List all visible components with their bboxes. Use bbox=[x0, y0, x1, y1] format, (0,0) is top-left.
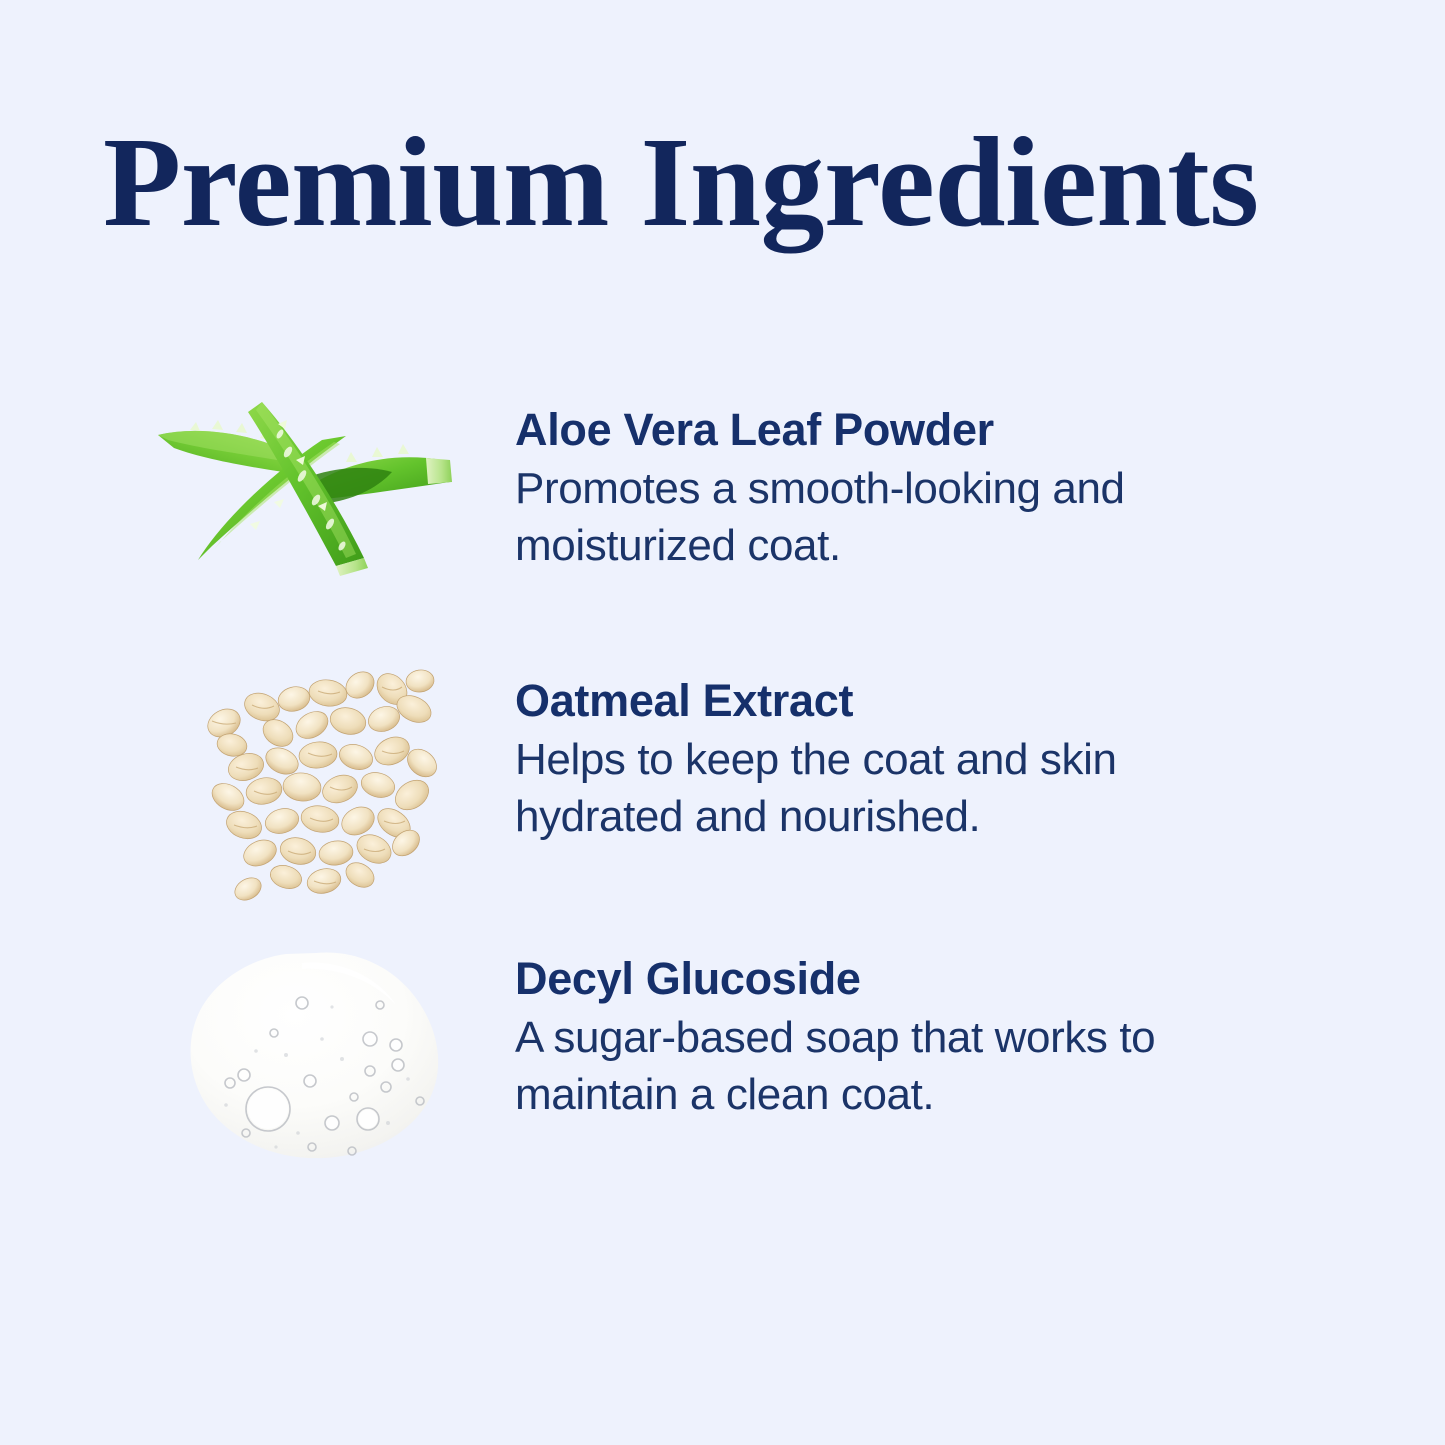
ingredient-description: A sugar-based soap that works to maintai… bbox=[515, 1009, 1215, 1123]
ingredient-name: Aloe Vera Leaf Powder bbox=[515, 402, 1305, 458]
ingredient-item-decyl-glucoside: Decyl Glucoside A sugar-based soap that … bbox=[0, 937, 1445, 1212]
aloe-vera-leaves-icon bbox=[150, 390, 462, 570]
ingredient-description: Helps to keep the coat and skin hydrated… bbox=[515, 731, 1215, 845]
ingredient-name: Decyl Glucoside bbox=[515, 951, 1305, 1007]
ingredient-copy: Decyl Glucoside A sugar-based soap that … bbox=[515, 951, 1305, 1123]
ingredient-list: Aloe Vera Leaf Powder Promotes a smooth-… bbox=[0, 380, 1445, 1212]
page-title: Premium Ingredients bbox=[103, 118, 1353, 246]
ingredient-description: Promotes a smooth-looking and moisturize… bbox=[515, 460, 1215, 574]
ingredient-item-aloe-vera: Aloe Vera Leaf Powder Promotes a smooth-… bbox=[0, 380, 1445, 655]
ingredient-name: Oatmeal Extract bbox=[515, 673, 1305, 729]
ingredient-copy: Oatmeal Extract Helps to keep the coat a… bbox=[515, 673, 1305, 845]
ingredient-copy: Aloe Vera Leaf Powder Promotes a smooth-… bbox=[515, 402, 1305, 574]
gel-droplet-icon bbox=[182, 947, 450, 1162]
oatmeal-flakes-icon bbox=[188, 663, 454, 903]
ingredient-item-oatmeal: Oatmeal Extract Helps to keep the coat a… bbox=[0, 655, 1445, 937]
